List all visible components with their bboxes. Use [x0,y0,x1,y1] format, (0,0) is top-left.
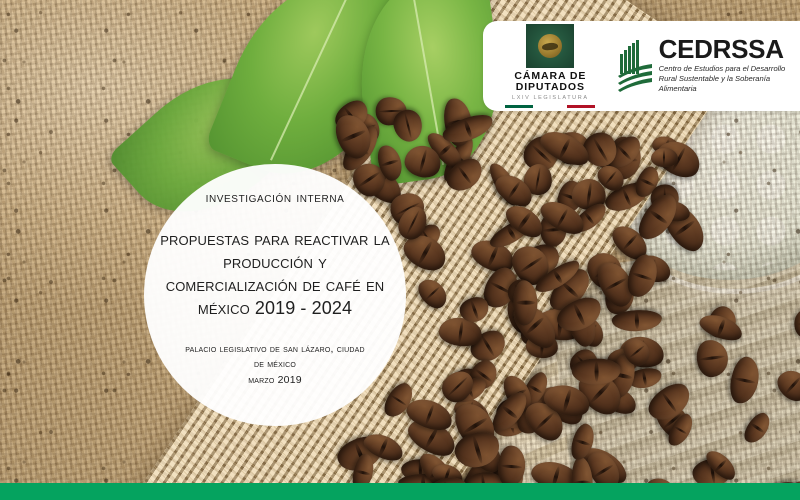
legislatura-label: LXIV LEGISLATURA [512,95,589,101]
presentation-cover-slide: CÁMARA DE DIPUTADOS LXIV LEGISLATURA [0,0,800,500]
cedrssa-tagline: Centro de Estudios para el Desarrollo Ru… [659,64,800,95]
logo-banner: CÁMARA DE DIPUTADOS LXIV LEGISLATURA [483,21,800,111]
title-circle: Investigación interna Propuestas para re… [144,164,406,426]
venue-block: Palacio legislativo de San Lázaro, Ciuda… [185,342,365,388]
mexican-flag-bars-icon [505,105,595,108]
logo-cedrssa: CEDRSSA Centro de Estudios para el Desar… [618,37,800,94]
footer-accent-bar [0,483,800,500]
kicker-label: Investigación interna [206,190,345,206]
flag-bar-white [536,105,564,108]
emblem-circle [538,34,562,58]
page-title: Propuestas para reactivar la producción … [159,228,391,320]
coffee-bean [651,148,678,168]
cedrssa-text-block: CEDRSSA Centro de Estudios para el Desar… [659,37,800,94]
camara-label: CÁMARA DE DIPUTADOS [514,71,586,94]
cedrssa-tagline-line-2: Rural Sustentable y la Soberanía Aliment… [659,74,800,95]
venue-location: Palacio legislativo de San Lázaro, Ciuda… [185,343,365,370]
flag-bar-red [567,105,595,108]
eagle-glyph [542,42,559,51]
cedrssa-acronym: CEDRSSA [659,37,800,62]
mexican-eagle-emblem-icon [526,24,574,68]
flag-bar-green [505,105,533,108]
coffee-bean [513,280,537,325]
camara-line-2: DIPUTADOS [514,82,586,93]
logo-camara-de-diputados: CÁMARA DE DIPUTADOS LXIV LEGISLATURA [501,24,600,108]
cedrssa-furrows-icon [618,40,652,92]
cedrssa-tagline-line-1: Centro de Estudios para el Desarrollo [659,64,800,74]
venue-date: Marzo 2019 [185,373,365,388]
